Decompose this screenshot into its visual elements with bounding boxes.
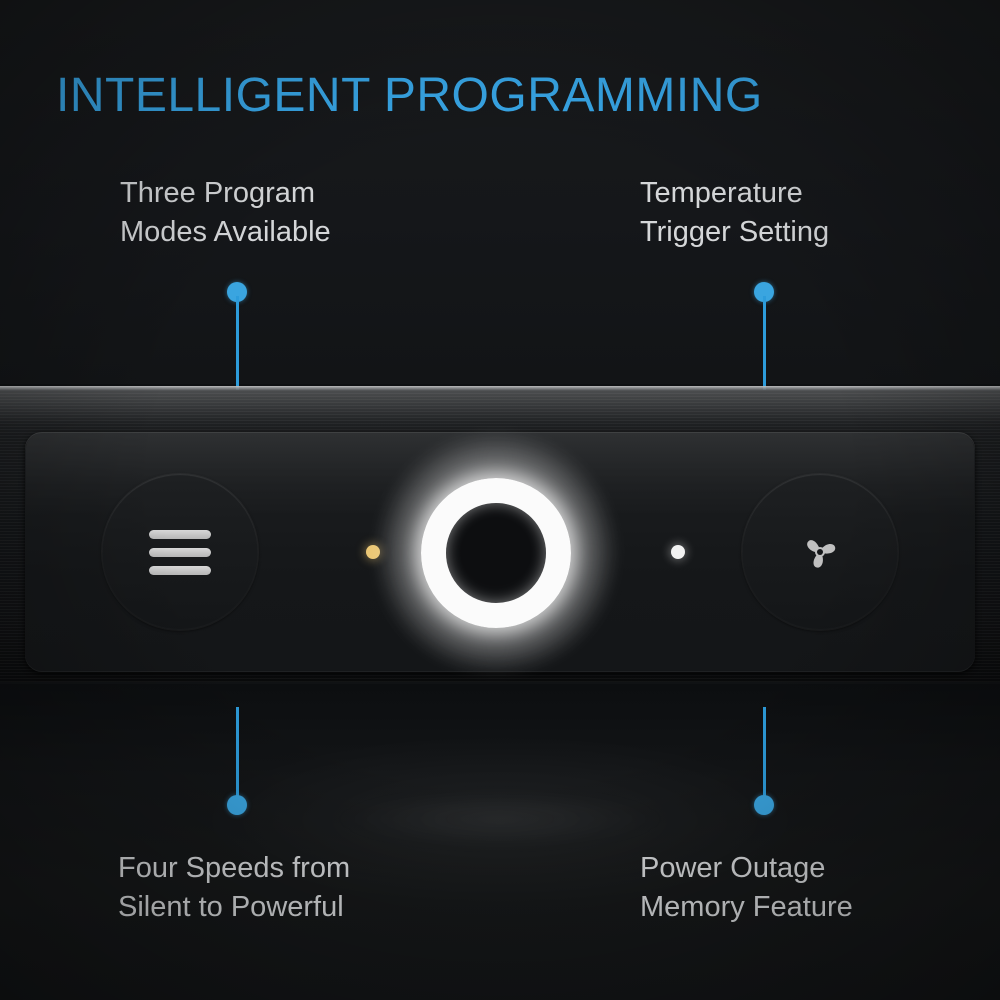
status-led-indicator bbox=[671, 545, 685, 559]
page-title: INTELLIGENT PROGRAMMING bbox=[56, 68, 763, 123]
connector-line bbox=[763, 296, 766, 392]
device-body bbox=[0, 386, 1000, 686]
connector-dot-icon bbox=[754, 795, 774, 815]
callout-label-power-outage-memory: Power Outage Memory Feature bbox=[640, 849, 853, 927]
menu-bar-1 bbox=[149, 530, 211, 539]
fan-speed-button[interactable] bbox=[742, 474, 898, 630]
callout-label-temperature-trigger: Temperature Trigger Setting bbox=[640, 174, 829, 252]
connector-dot-icon bbox=[227, 795, 247, 815]
mode-led-indicator bbox=[366, 545, 380, 559]
connector-line bbox=[763, 707, 766, 803]
callout-line-2: Memory Feature bbox=[640, 888, 853, 927]
callout-line-1: Three Program bbox=[120, 174, 331, 213]
callout-line-2: Modes Available bbox=[120, 213, 331, 252]
menu-bar-2 bbox=[149, 548, 211, 557]
callout-label-three-program-modes: Three Program Modes Available bbox=[120, 174, 331, 252]
callout-line-2: Silent to Powerful bbox=[118, 888, 350, 927]
callout-line-1: Temperature bbox=[640, 174, 829, 213]
glowing-ring-dial-icon bbox=[421, 478, 571, 628]
menu-mode-button[interactable] bbox=[102, 474, 258, 630]
menu-bar-3 bbox=[149, 566, 211, 575]
connector-line bbox=[236, 296, 239, 392]
infographic-canvas: INTELLIGENT PROGRAMMING Three Program Mo… bbox=[0, 0, 1000, 1000]
background-bottom-band bbox=[0, 684, 1000, 1000]
power-dial-button[interactable] bbox=[401, 458, 591, 648]
callout-label-four-speeds: Four Speeds from Silent to Powerful bbox=[118, 849, 350, 927]
callout-line-2: Trigger Setting bbox=[640, 213, 829, 252]
fan-propeller-icon bbox=[789, 521, 851, 583]
callout-line-1: Power Outage bbox=[640, 849, 853, 888]
menu-bars-icon bbox=[149, 521, 211, 584]
callout-line-1: Four Speeds from bbox=[118, 849, 350, 888]
control-panel bbox=[25, 432, 975, 672]
connector-line bbox=[236, 707, 239, 803]
